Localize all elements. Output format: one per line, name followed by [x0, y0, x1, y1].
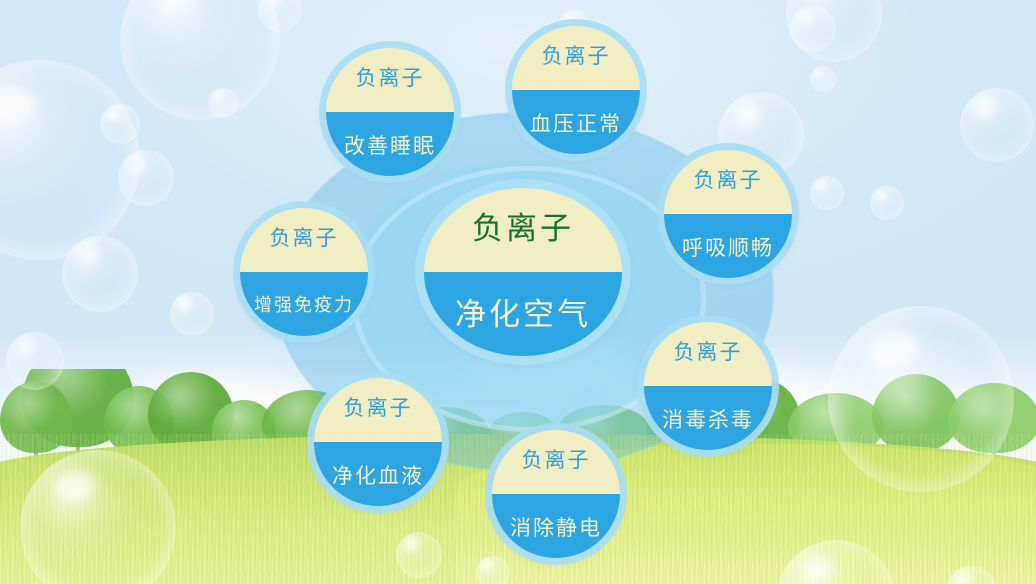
satellite-node-disinfect-sterilize[interactable]: 负离子消毒杀毒: [644, 322, 772, 450]
satellite-node-purify-blood[interactable]: 负离子净化血液: [314, 378, 442, 506]
center-node-title: 负离子: [472, 214, 574, 247]
satellite-node-title: 负离子: [674, 342, 743, 367]
center-node-purify-air[interactable]: 负离子 净化空气: [424, 188, 622, 356]
satellite-node-title: 负离子: [356, 68, 425, 93]
satellite-node-subtitle: 净化血液: [332, 462, 424, 487]
satellite-node-remove-static[interactable]: 负离子消除静电: [492, 430, 620, 558]
satellite-node-subtitle: 血压正常: [530, 110, 622, 135]
satellite-node-subtitle: 改善睡眠: [344, 132, 436, 157]
satellite-node-title: 负离子: [694, 170, 763, 195]
center-node-subtitle: 净化空气: [455, 298, 591, 331]
satellite-node-improve-sleep[interactable]: 负离子改善睡眠: [326, 48, 454, 176]
satellite-node-title: 负离子: [522, 450, 591, 475]
satellite-node-subtitle: 消除静电: [510, 514, 602, 539]
satellite-node-smooth-breathing[interactable]: 负离子呼吸顺畅: [664, 150, 792, 278]
satellite-node-subtitle: 增强免疫力: [254, 293, 354, 315]
satellite-node-normal-blood-pressure[interactable]: 负离子血压正常: [512, 26, 640, 154]
ionizer-infographic: 负离子改善睡眠负离子血压正常负离子呼吸顺畅负离子消毒杀毒负离子消除静电负离子净化…: [0, 0, 1036, 584]
satellite-node-title: 负离子: [270, 228, 339, 253]
satellite-node-title: 负离子: [344, 398, 413, 423]
satellite-node-title: 负离子: [542, 46, 611, 71]
satellite-node-boost-immunity[interactable]: 负离子增强免疫力: [240, 208, 368, 336]
satellite-node-subtitle: 消毒杀毒: [662, 406, 754, 431]
satellite-node-subtitle: 呼吸顺畅: [682, 234, 774, 259]
